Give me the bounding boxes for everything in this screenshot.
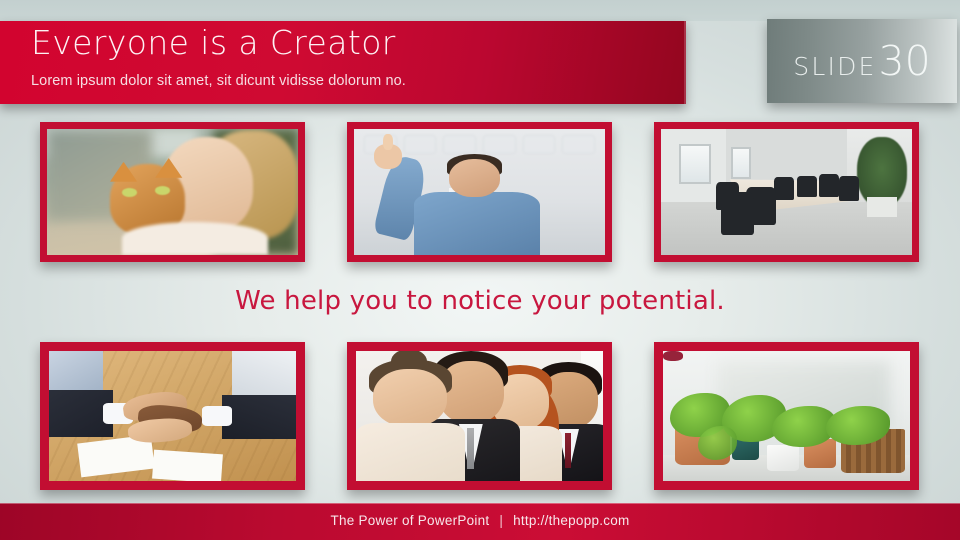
photo-woman-with-cat-image bbox=[47, 129, 298, 255]
footer-bar: The Power of PowerPoint | http://thepopp… bbox=[0, 503, 960, 540]
photo-conference-room[interactable] bbox=[654, 122, 919, 262]
slide-number-badge-inner: SLIDE 30 bbox=[793, 37, 930, 85]
photo-business-team-image bbox=[356, 351, 603, 481]
photo-potted-plants-image bbox=[663, 351, 910, 481]
presentation-slide: Everyone is a Creator Lorem ipsum dolor … bbox=[0, 0, 960, 540]
page-subtitle: Lorem ipsum dolor sit amet, sit dicunt v… bbox=[31, 73, 406, 89]
slide-badge-label: SLIDE bbox=[793, 52, 876, 81]
footer-text: The Power of PowerPoint | http://thepopp… bbox=[0, 513, 960, 528]
photo-woman-with-cat[interactable] bbox=[40, 122, 305, 262]
photo-man-pointing[interactable] bbox=[347, 122, 612, 262]
photo-potted-plants[interactable] bbox=[654, 342, 919, 490]
photo-business-team[interactable] bbox=[347, 342, 612, 490]
photo-hands-teamwork-image bbox=[49, 351, 296, 481]
footer-separator: | bbox=[493, 513, 509, 528]
slide-number-badge: SLIDE 30 bbox=[767, 19, 957, 103]
slide-badge-number: 30 bbox=[879, 37, 931, 85]
page-title: Everyone is a Creator bbox=[31, 23, 396, 62]
top-background-strip bbox=[0, 0, 960, 21]
footer-brand: The Power of PowerPoint bbox=[331, 513, 490, 528]
photo-conference-room-image bbox=[661, 129, 912, 255]
tagline-text: We help you to notice your potential. bbox=[0, 286, 960, 316]
photo-man-pointing-image bbox=[354, 129, 605, 255]
title-banner: Everyone is a Creator Lorem ipsum dolor … bbox=[0, 21, 686, 104]
photo-hands-teamwork[interactable] bbox=[40, 342, 305, 490]
footer-url-link[interactable]: http://thepopp.com bbox=[513, 513, 629, 528]
